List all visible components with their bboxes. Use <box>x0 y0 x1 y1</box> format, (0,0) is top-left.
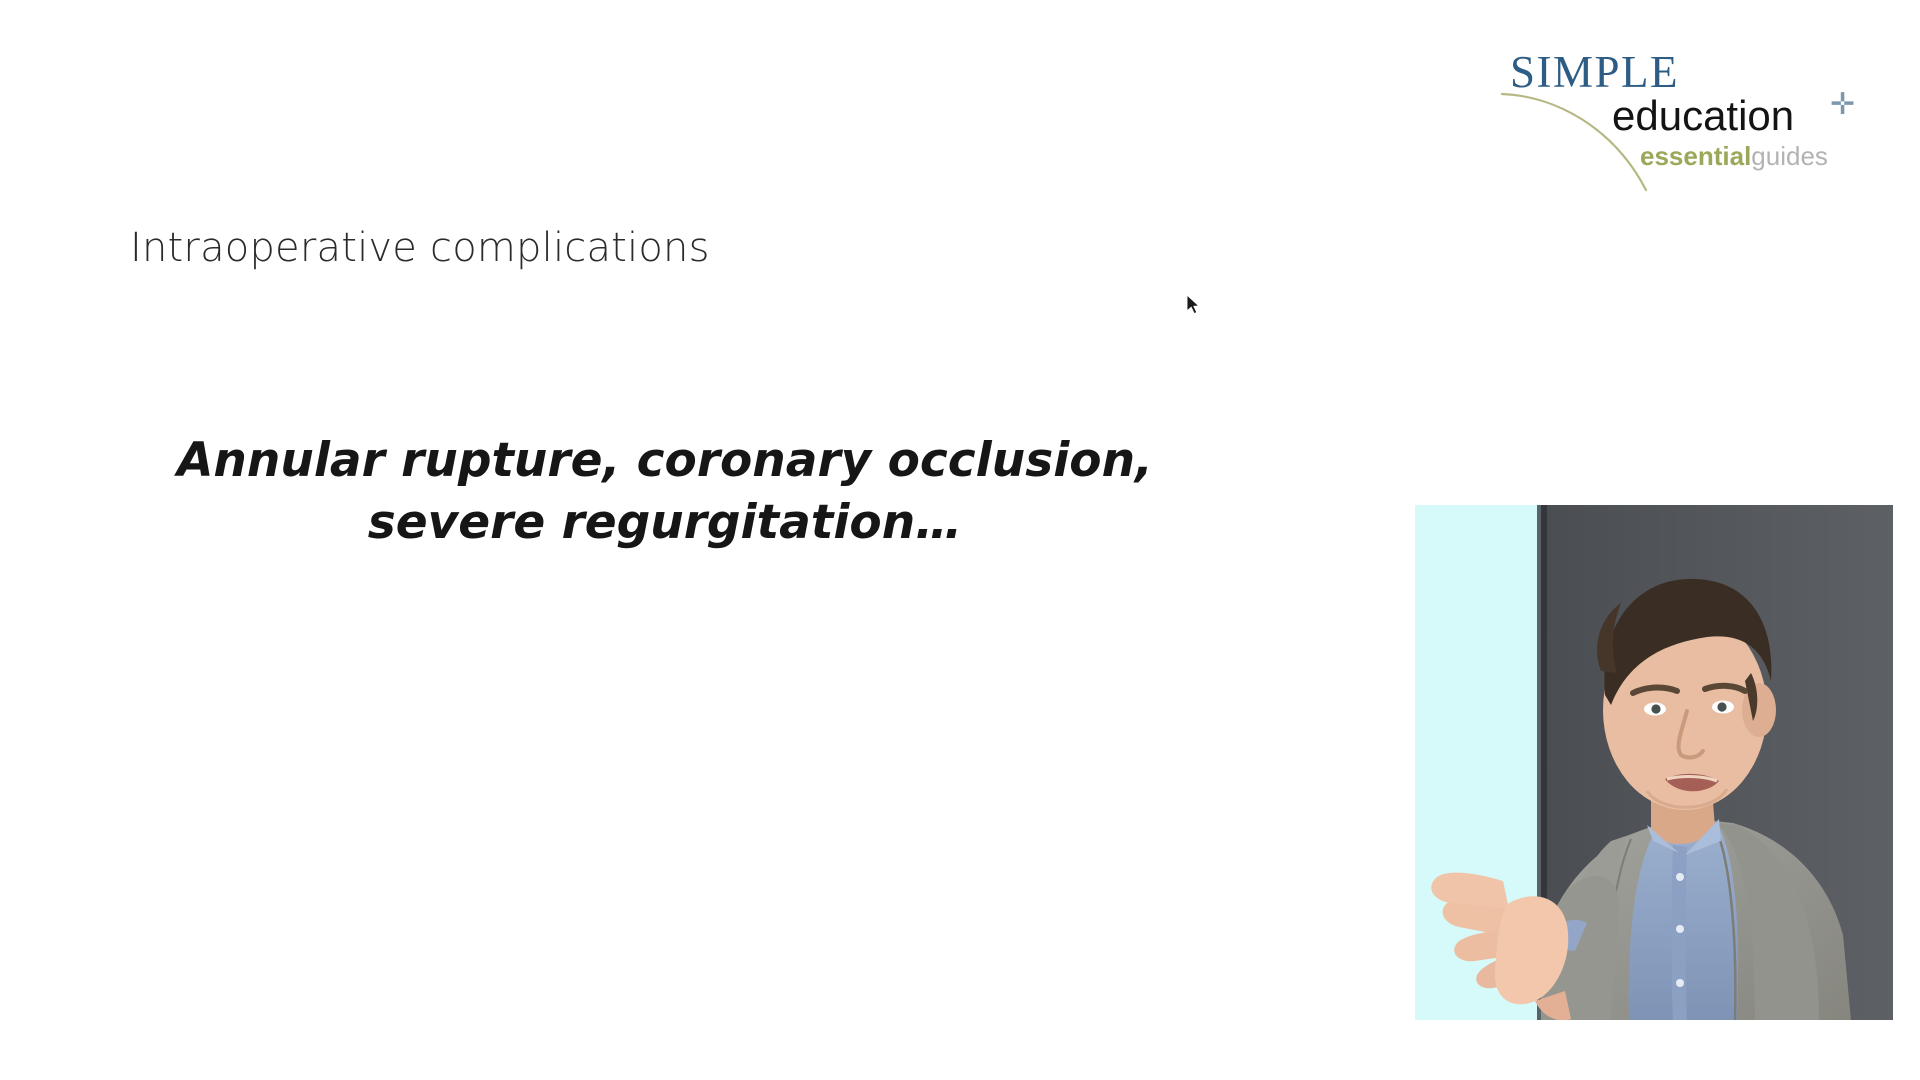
slide-canvas: Intraoperative complications Annular rup… <box>55 140 1405 750</box>
presentation-viewer: SIMPLE education ✛ essentialguides Intra… <box>0 0 1920 1080</box>
logo-essential-text: essential <box>1640 141 1751 171</box>
slide-body-line-2: severe regurgitation… <box>150 492 1180 554</box>
logo-simple-text: SIMPLE <box>1510 50 1679 95</box>
logo-essentialguides-text: essentialguides <box>1640 143 1828 169</box>
presenter-video-inset[interactable] <box>1415 505 1893 1020</box>
simple-education-logo: SIMPLE education ✛ essentialguides <box>1500 40 1830 180</box>
presenter-video-frame <box>1415 505 1893 1020</box>
logo-education-text: education <box>1612 95 1794 137</box>
logo-guides-text: guides <box>1751 141 1828 171</box>
logo-plus-icon: ✛ <box>1830 90 1855 120</box>
slide-body-text: Annular rupture, coronary occlusion, sev… <box>150 430 1180 554</box>
slide-title: Intraoperative complications <box>130 225 710 271</box>
slide-body-line-1: Annular rupture, coronary occlusion, <box>150 430 1180 492</box>
